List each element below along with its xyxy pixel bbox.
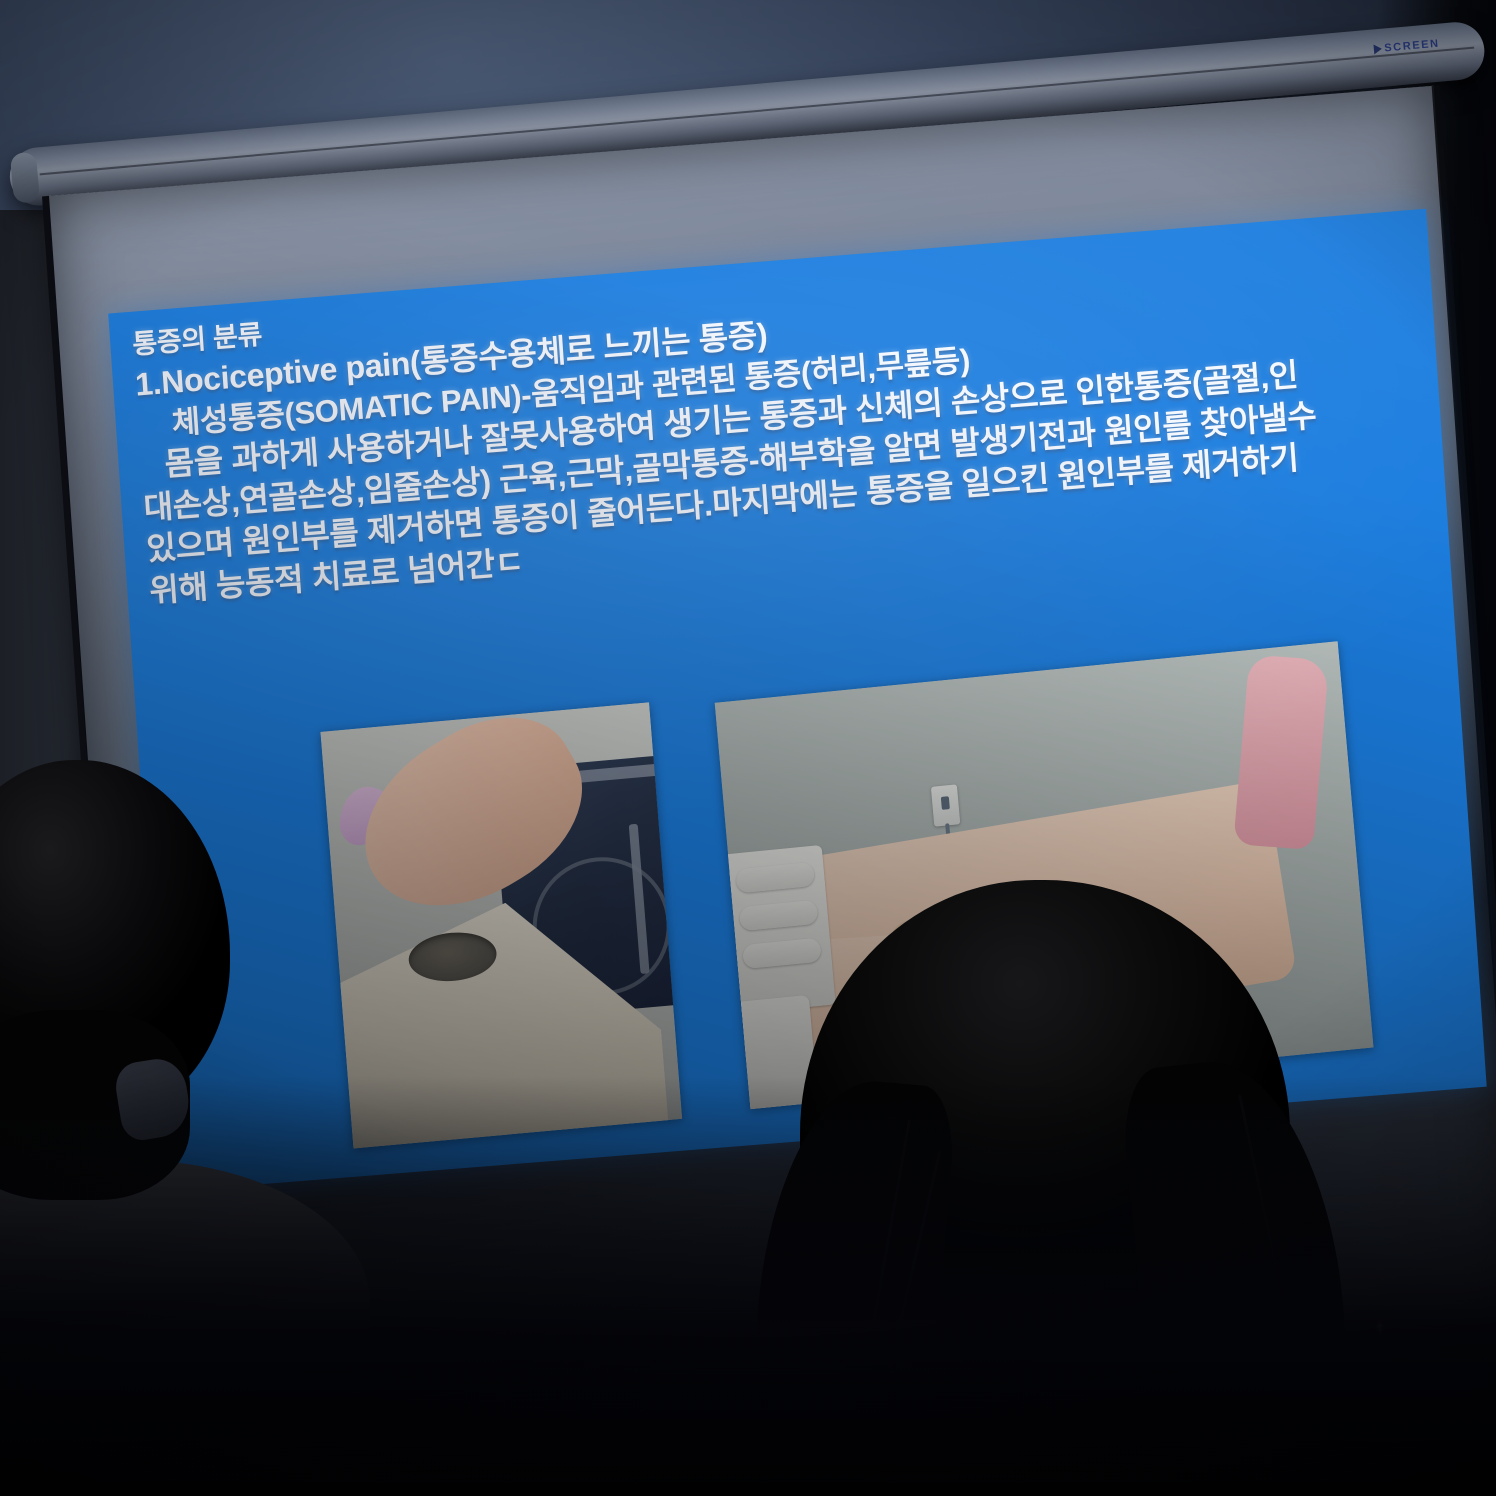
- wall-outlet: [931, 784, 960, 826]
- slide-text-block: 통증의 분류 1.Nociceptive pain(통증수용체로 느끼는 통증)…: [131, 225, 1439, 612]
- roller-end-cap: [10, 152, 40, 204]
- brand-triangle-icon: [1373, 44, 1382, 55]
- pink-sock-foot: [1233, 654, 1329, 850]
- lecture-room-scene: SCREEN 통증의 분류 1.Nociceptive pain(통증수용체로 …: [0, 0, 1496, 1496]
- room-foreground-darkness: [0, 1076, 1496, 1496]
